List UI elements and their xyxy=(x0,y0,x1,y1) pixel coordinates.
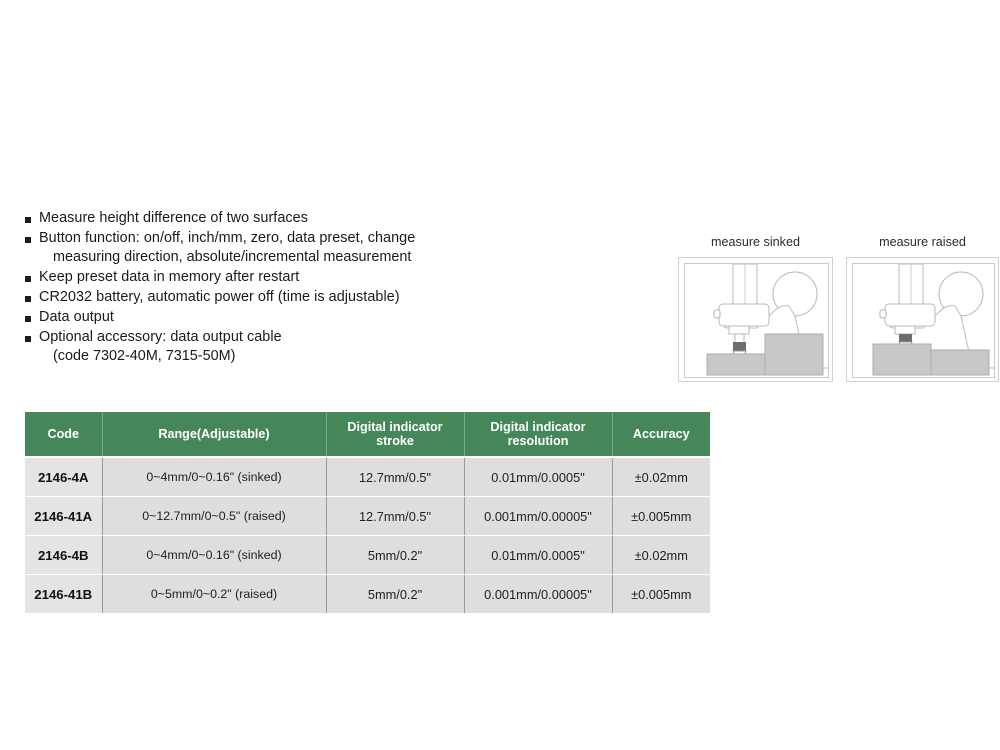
header-line-2: resolution xyxy=(508,434,569,448)
feature-text: Measure height difference of two surface… xyxy=(39,209,308,228)
code-prefix: (code xyxy=(53,348,93,364)
feature-code-line: (code 7302-40M, 7315-50M) xyxy=(39,347,282,366)
list-item: Optional accessory: data output cable (c… xyxy=(25,328,485,366)
table-row: 2146-4B 0~4mm/0~0.16" (sinked) 5mm/0.2" … xyxy=(25,536,710,575)
cell-accuracy: ±0.02mm xyxy=(612,457,710,497)
list-item: Measure height difference of two surface… xyxy=(25,209,485,228)
feature-text-block: Optional accessory: data output cable (c… xyxy=(39,328,282,366)
list-item: Keep preset data in memory after restart xyxy=(25,268,485,287)
table-row: 2146-41B 0~5mm/0~0.2" (raised) 5mm/0.2" … xyxy=(25,575,710,614)
cell-resolution: 0.01mm/0.0005" xyxy=(464,457,612,497)
square-bullet-icon xyxy=(25,217,31,223)
table-row: 2146-4A 0~4mm/0~0.16" (sinked) 12.7mm/0.… xyxy=(25,457,710,497)
cell-stroke: 5mm/0.2" xyxy=(326,575,464,614)
feature-list: Measure height difference of two surface… xyxy=(25,209,485,367)
cell-code: 2146-4B xyxy=(25,536,102,575)
feature-text: Button function: on/off, inch/mm, zero, … xyxy=(39,230,415,246)
figure-caption-sinked: measure sinked xyxy=(678,235,833,249)
feature-text: Data output xyxy=(39,308,114,327)
column-header-resolution: Digital indicator resolution xyxy=(464,412,612,457)
cell-resolution: 0.001mm/0.00005" xyxy=(464,575,612,614)
cell-code: 2146-4A xyxy=(25,457,102,497)
feature-text-continuation: measuring direction, absolute/incrementa… xyxy=(39,248,415,267)
cell-range: 0~5mm/0~0.2" (raised) xyxy=(102,575,326,614)
square-bullet-icon xyxy=(25,336,31,342)
cell-accuracy: ±0.005mm xyxy=(612,497,710,536)
measure-sinked-illustration xyxy=(685,264,828,377)
cell-accuracy: ±0.02mm xyxy=(612,536,710,575)
measure-raised-illustration xyxy=(853,264,994,377)
cell-resolution: 0.001mm/0.00005" xyxy=(464,497,612,536)
diagram-measure-sinked xyxy=(678,257,833,382)
specification-table: Code Range(Adjustable) Digital indicator… xyxy=(25,412,710,613)
cell-code: 2146-41B xyxy=(25,575,102,614)
cell-stroke: 12.7mm/0.5" xyxy=(326,457,464,497)
square-bullet-icon xyxy=(25,316,31,322)
header-line-1: Digital indicator xyxy=(347,420,442,434)
cell-range: 0~12.7mm/0~0.5" (raised) xyxy=(102,497,326,536)
feature-text: Keep preset data in memory after restart xyxy=(39,268,299,287)
column-header-accuracy: Accuracy xyxy=(612,412,710,457)
diagram-measure-raised xyxy=(846,257,999,382)
list-item: Button function: on/off, inch/mm, zero, … xyxy=(25,229,485,267)
feature-text-block: Button function: on/off, inch/mm, zero, … xyxy=(39,229,415,267)
cell-stroke: 12.7mm/0.5" xyxy=(326,497,464,536)
column-header-range: Range(Adjustable) xyxy=(102,412,326,457)
code-suffix: ) xyxy=(231,348,236,364)
header-line-2: stroke xyxy=(376,434,414,448)
cell-accuracy: ±0.005mm xyxy=(612,575,710,614)
column-header-code: Code xyxy=(25,412,102,457)
feature-text: Optional accessory: data output cable xyxy=(39,329,282,345)
cell-stroke: 5mm/0.2" xyxy=(326,536,464,575)
square-bullet-icon xyxy=(25,276,31,282)
cell-range: 0~4mm/0~0.16" (sinked) xyxy=(102,457,326,497)
accessory-codes: 7302-40M, 7315-50M xyxy=(93,348,231,364)
table-row: 2146-41A 0~12.7mm/0~0.5" (raised) 12.7mm… xyxy=(25,497,710,536)
figure-caption-raised: measure raised xyxy=(846,235,999,249)
cell-range: 0~4mm/0~0.16" (sinked) xyxy=(102,536,326,575)
cell-resolution: 0.01mm/0.0005" xyxy=(464,536,612,575)
table-header-row: Code Range(Adjustable) Digital indicator… xyxy=(25,412,710,457)
square-bullet-icon xyxy=(25,296,31,302)
header-line-1: Digital indicator xyxy=(490,420,585,434)
feature-text: CR2032 battery, automatic power off (tim… xyxy=(39,288,400,307)
cell-code: 2146-41A xyxy=(25,497,102,536)
column-header-stroke: Digital indicator stroke xyxy=(326,412,464,457)
square-bullet-icon xyxy=(25,237,31,243)
list-item: Data output xyxy=(25,308,485,327)
list-item: CR2032 battery, automatic power off (tim… xyxy=(25,288,485,307)
